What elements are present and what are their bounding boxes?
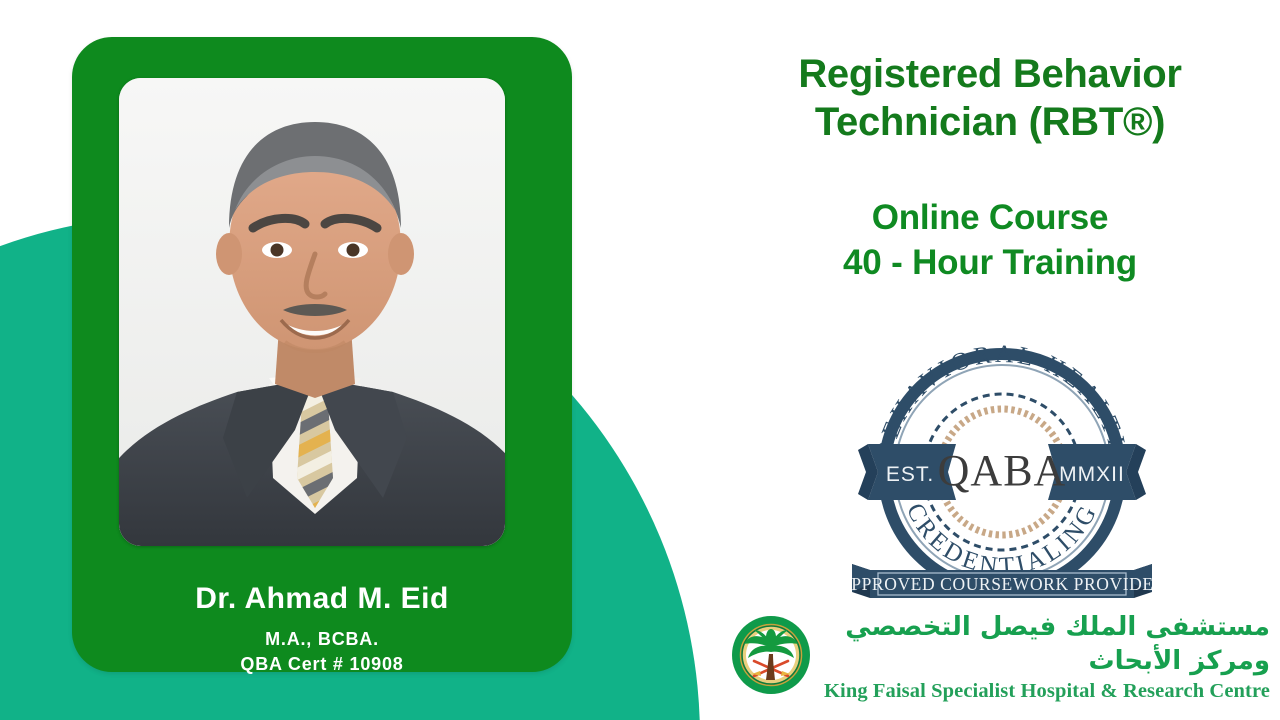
course-subtitle-line-1: Online Course: [710, 195, 1270, 240]
profile-card: Dr. Ahmad M. Eid M.A., BCBA. QBA Cert # …: [72, 37, 572, 672]
credentials-line-2: QBA Cert # 10908: [72, 652, 572, 677]
hospital-name-block: مستشفى الملك فيصل التخصصي ومركز الأبحاث …: [822, 610, 1270, 704]
person-name: Dr. Ahmad M. Eid: [72, 582, 572, 616]
course-subtitle-line-2: 40 - Hour Training: [710, 240, 1270, 285]
course-title-line-2: Technician (RBT®): [710, 98, 1270, 146]
seal-center-text: QABA: [938, 446, 1067, 495]
credentials-line-1: M.A., BCBA.: [72, 627, 572, 652]
seal-banner-text: APPROVED COURSEWORK PROVIDER: [852, 574, 1152, 594]
portrait-photo: [119, 78, 505, 546]
seal-ribbon-left: EST.: [886, 463, 934, 486]
seal-ribbon-right: MMXII: [1059, 463, 1125, 486]
course-subtitle: Online Course 40 - Hour Training: [710, 195, 1270, 285]
course-title-line-1: Registered Behavior: [710, 50, 1270, 98]
person-credentials: M.A., BCBA. QBA Cert # 10908: [72, 627, 572, 677]
course-title: Registered Behavior Technician (RBT®): [710, 50, 1270, 146]
right-column: Registered Behavior Technician (RBT®) On…: [700, 0, 1280, 720]
hospital-name-arabic: مستشفى الملك فيصل التخصصي ومركز الأبحاث: [822, 610, 1270, 678]
hospital-name-english: King Faisal Specialist Hospital & Resear…: [822, 678, 1270, 704]
qaba-seal-logo: BEHAVIORAL HEALTH CREDENTIALING: [852, 322, 1152, 602]
hospital-logo: مستشفى الملك فيصل التخصصي ومركز الأبحاث …: [730, 608, 1270, 703]
slide-canvas: Dr. Ahmad M. Eid M.A., BCBA. QBA Cert # …: [0, 0, 1280, 720]
palm-tree-emblem-icon: [730, 614, 812, 696]
